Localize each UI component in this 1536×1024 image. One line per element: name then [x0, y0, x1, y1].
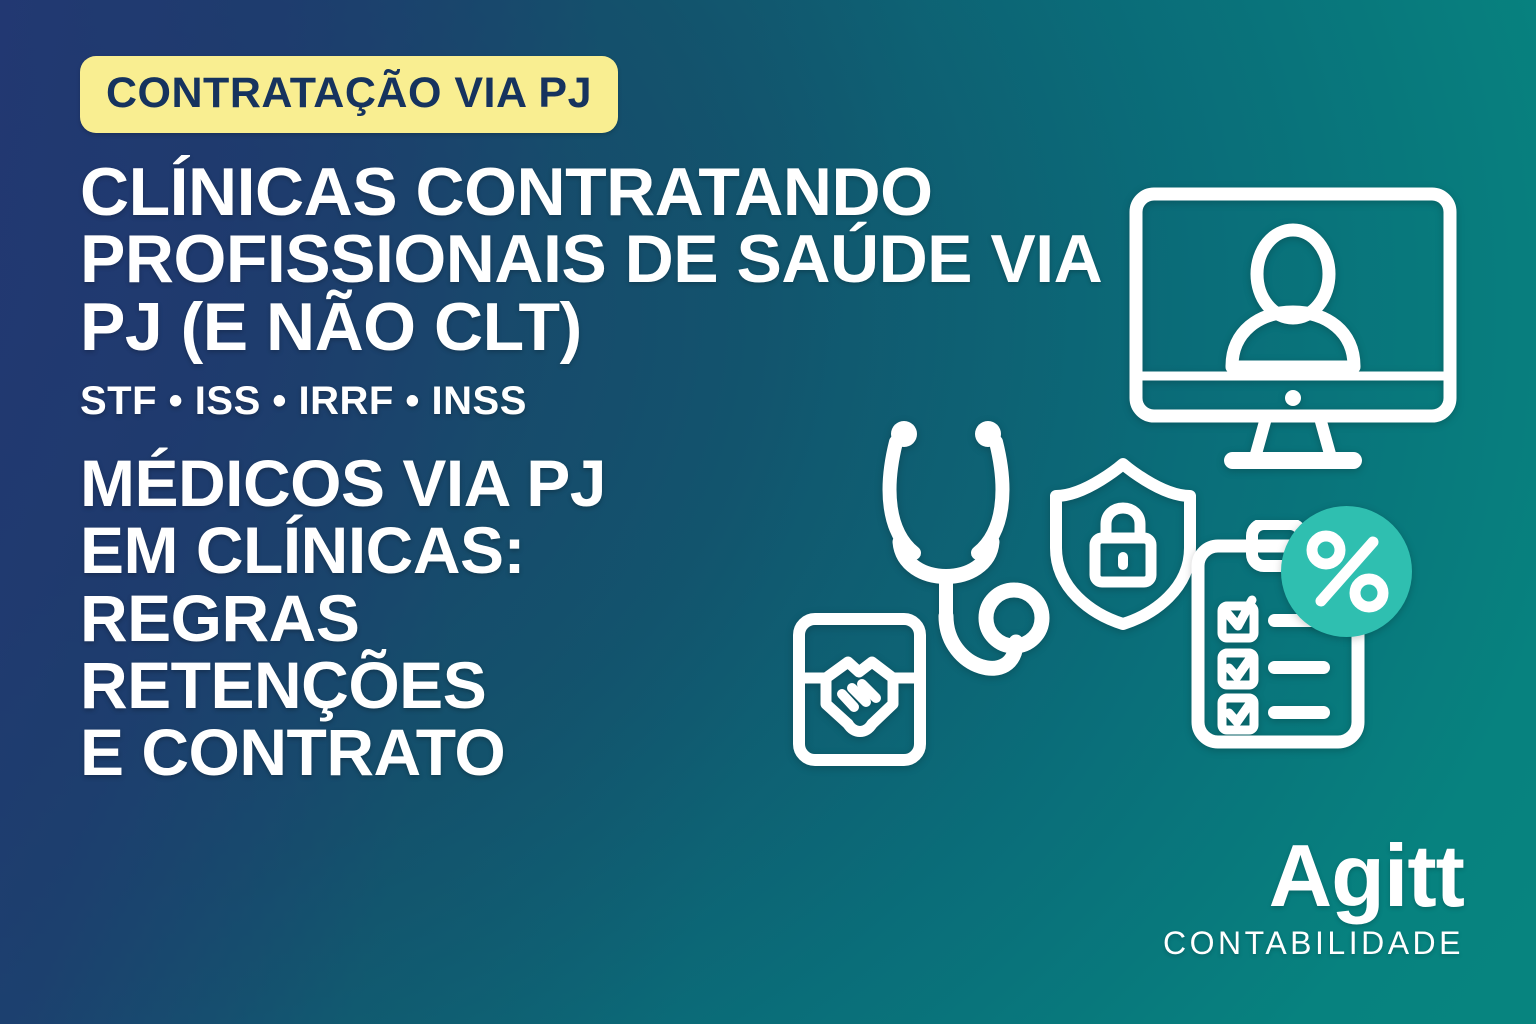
topics-line: STF • ISS • IRRF • INSS [80, 379, 1140, 424]
subheadline-line-1: MÉDICOS VIA PJ [80, 450, 840, 517]
monitor-user-icon [1128, 186, 1458, 476]
category-badge: CONTRATAÇÃO VIA PJ [80, 56, 618, 133]
subheadline-line-5: E CONTRATO [80, 719, 840, 786]
brand-logo: Agitt CONTABILIDADE [1163, 836, 1464, 962]
subheadline-line-4: RETENÇÕES [80, 652, 840, 719]
headline: CLÍNICAS CONTRATANDO PROFISSIONAIS DE SA… [80, 159, 1120, 361]
text-column: CONTRATAÇÃO VIA PJ CLÍNICAS CONTRATANDO … [80, 56, 1140, 787]
percent-badge-icon [1281, 506, 1412, 637]
promo-poster: CONTRATAÇÃO VIA PJ CLÍNICAS CONTRATANDO … [0, 0, 1536, 1024]
subheadline-line-2: EM CLÍNICAS: [80, 517, 840, 584]
subheadline-line-3: REGRAS [80, 585, 840, 652]
subheadline: MÉDICOS VIA PJ EM CLÍNICAS: REGRAS RETEN… [80, 450, 840, 787]
logo-tagline: CONTABILIDADE [1163, 925, 1464, 962]
logo-wordmark: Agitt [1163, 836, 1464, 915]
